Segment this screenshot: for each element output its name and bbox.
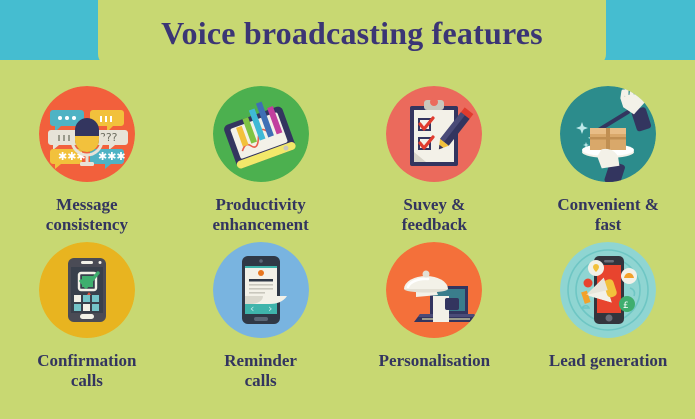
feature-label: Suvey & feedback: [402, 195, 467, 235]
feature-survey-feedback[interactable]: Suvey & feedback: [348, 86, 522, 254]
feature-confirmation-calls[interactable]: Confirmation calls: [0, 242, 174, 410]
tablet-bar-chart-icon: [213, 86, 309, 182]
feature-label: Message consistency: [46, 195, 128, 235]
smartphone-checkmark-icon: [39, 242, 135, 338]
smartphone-message-icon: ‹ ›: [213, 242, 309, 338]
feature-reminder-calls[interactable]: ‹ › Reminder calls: [174, 242, 348, 410]
page-title: Voice broadcasting features: [161, 17, 543, 49]
svg-text:£: £: [623, 301, 629, 311]
feature-label: Confirmation calls: [37, 351, 136, 391]
features-grid: ✱✱✱ ??? ✱✱✱: [0, 70, 695, 419]
svg-text:‹: ‹: [250, 302, 254, 315]
feature-message-consistency[interactable]: ✱✱✱ ??? ✱✱✱: [0, 86, 174, 254]
feature-label: Reminder calls: [224, 351, 297, 391]
feature-convenient-fast[interactable]: Convenient & fast: [521, 86, 695, 254]
feature-productivity-enhancement[interactable]: Productivity enhancement: [174, 86, 348, 254]
svg-text:✱✱✱: ✱✱✱: [58, 150, 86, 163]
feature-personalisation[interactable]: Personalisation: [348, 242, 522, 410]
features-row-2: Confirmation calls: [0, 242, 695, 410]
clipboard-checklist-pencil-icon: [386, 86, 482, 182]
svg-text:›: ›: [268, 302, 272, 315]
feature-lead-generation[interactable]: £ Lead generation: [521, 242, 695, 410]
feature-label: Convenient & fast: [557, 195, 659, 235]
feature-label: Productivity enhancement: [212, 195, 308, 235]
svg-text:✱✱✱: ✱✱✱: [98, 150, 126, 163]
microphone-speech-bubbles-icon: ✱✱✱ ??? ✱✱✱: [39, 86, 135, 182]
feature-label: Personalisation: [379, 351, 490, 371]
feature-label: Lead generation: [549, 351, 668, 371]
smartphone-megaphone-icon: £: [560, 242, 656, 338]
features-row-1: ✱✱✱ ??? ✱✱✱: [0, 86, 695, 254]
laptop-service-tray-icon: [386, 242, 482, 338]
header-banner: Voice broadcasting features: [98, 0, 606, 66]
infographic-poster: Voice broadcasting features: [0, 0, 695, 419]
magic-wand-package-tray-icon: [560, 86, 656, 182]
